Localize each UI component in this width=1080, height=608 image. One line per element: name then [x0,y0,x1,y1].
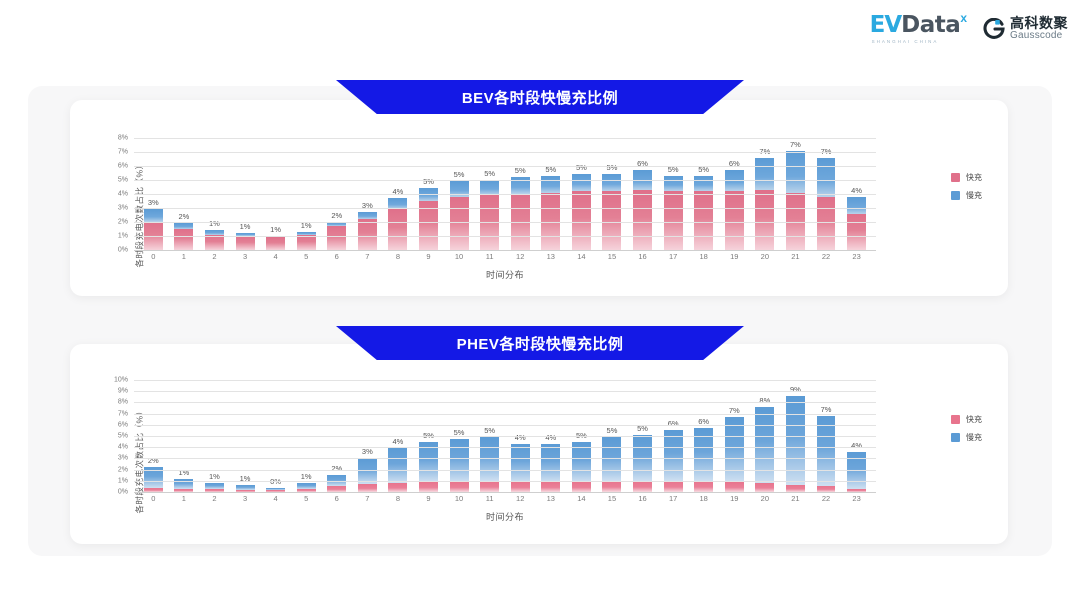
stacked-bar[interactable] [236,485,255,492]
stacked-bar[interactable] [480,180,499,250]
bar-segment-fast-charge[interactable] [847,214,866,250]
bar-segment-fast-charge[interactable] [725,191,744,250]
legend-item[interactable]: 慢充 [951,190,982,201]
evdata-prefix: EV [870,14,902,37]
x-tick-label: 16 [627,494,658,503]
y-tick-label: 5% [118,177,128,184]
stacked-bar[interactable] [205,230,224,250]
x-tick-label: 1 [169,252,200,261]
gausscode-cn: 高科数聚 [1010,16,1068,31]
bar-value-label: 1% [240,222,251,231]
y-tick-label: 0% [118,247,128,254]
stacked-bar[interactable] [511,177,530,250]
bev-chart: 各时段充电次数占比（%） 0%1%2%3%4%5%6%7%8% 3%2%1%1%… [88,138,988,290]
bar-value-label: 5% [576,163,587,172]
x-tick-label: 3 [230,252,261,261]
bar-segment-fast-charge[interactable] [358,219,377,250]
bar-segment-slow-charge[interactable] [755,407,774,483]
phev-chart: 各时段充电次数占比（%） 0%1%2%3%4%5%6%7%8%9%10% 2%1… [88,380,988,540]
bar-value-label: 5% [607,426,618,435]
logo-bar: EV Data x SHANGHAI CHINA 高科数聚 Gausscode [870,14,1068,44]
stacked-bar[interactable] [694,428,713,492]
legend-label: 快充 [966,414,982,425]
bar-segment-fast-charge[interactable] [327,226,346,250]
y-tick-label: 9% [118,388,128,395]
x-tick-label: 6 [321,252,352,261]
bar-segment-fast-charge[interactable] [755,483,774,492]
x-tick-label: 20 [750,494,781,503]
legend-swatch-icon [951,173,960,182]
y-tick-label: 1% [118,477,128,484]
bar-segment-fast-charge[interactable] [450,197,469,250]
bar-segment-slow-charge[interactable] [511,444,530,482]
phev-legend: 快充慢充 [951,414,982,443]
stacked-bar[interactable] [541,176,560,250]
phev-plot-area: 2%1%1%1%0%1%2%3%4%5%5%5%4%4%5%5%5%6%6%7%… [134,380,876,492]
y-tick-label: 2% [118,466,128,473]
bar-segment-fast-charge[interactable] [664,481,683,492]
bev-x-axis-label: 时间分布 [134,268,876,281]
x-tick-label: 9 [413,494,444,503]
stacked-bar[interactable] [541,444,560,492]
gausscode-en: Gausscode [1010,31,1068,42]
bar-value-label: 1% [209,472,220,481]
phev-y-ticks: 0%1%2%3%4%5%6%7%8%9%10% [88,380,132,492]
y-tick-label: 1% [118,233,128,240]
grid-line [134,138,876,139]
grid-line [134,425,876,426]
x-tick-label: 20 [750,252,781,261]
stacked-bar[interactable] [664,176,683,250]
bar-segment-fast-charge[interactable] [358,484,377,492]
bar-segment-slow-charge[interactable] [664,176,683,191]
grid-line [134,194,876,195]
x-tick-label: 6 [321,494,352,503]
x-tick-label: 12 [505,494,536,503]
x-tick-label: 18 [688,494,719,503]
bar-value-label: 8% [759,396,770,405]
bar-segment-slow-charge[interactable] [786,151,805,193]
legend-label: 慢充 [966,432,982,443]
x-tick-label: 4 [260,252,291,261]
bar-value-label: 3% [362,447,373,456]
grid-line [134,208,876,209]
x-tick-label: 18 [688,252,719,261]
bar-segment-slow-charge[interactable] [602,174,621,191]
y-tick-label: 8% [118,135,128,142]
x-tick-label: 10 [444,252,475,261]
grid-line [134,414,876,415]
x-tick-label: 0 [138,494,169,503]
bar-segment-slow-charge[interactable] [664,430,683,482]
stacked-bar[interactable] [327,475,346,492]
x-tick-label: 2 [199,494,230,503]
stacked-bar[interactable] [358,458,377,492]
x-tick-label: 9 [413,252,444,261]
x-tick-label: 23 [841,494,872,503]
phev-title-banner: PHEV各时段快慢充比例 [336,326,744,360]
x-tick-label: 10 [444,494,475,503]
x-tick-label: 13 [536,494,567,503]
bev-x-ticks: 01234567891011121314151617181920212223 [134,252,876,261]
x-tick-label: 3 [230,494,261,503]
x-tick-label: 22 [811,494,842,503]
stacked-bar[interactable] [480,437,499,492]
bar-segment-slow-charge[interactable] [755,158,774,190]
grid-line [134,447,876,448]
bar-value-label: 5% [484,426,495,435]
bar-segment-fast-charge[interactable] [817,197,836,250]
bar-segment-fast-charge[interactable] [725,482,744,492]
stacked-bar[interactable] [358,212,377,250]
stacked-bar[interactable] [602,437,621,492]
bar-value-label: 4% [515,433,526,442]
phev-title-text: PHEV各时段快慢充比例 [457,333,624,354]
bar-segment-fast-charge[interactable] [694,191,713,250]
bar-segment-fast-charge[interactable] [755,190,774,250]
x-tick-label: 19 [719,494,750,503]
stacked-bar[interactable] [144,467,163,492]
grid-line [134,152,876,153]
stacked-bar[interactable] [602,174,621,250]
gausscode-mark-icon [983,18,1005,40]
bar-value-label: 5% [607,163,618,172]
x-tick-label: 5 [291,494,322,503]
bar-segment-fast-charge[interactable] [388,483,407,492]
legend-item[interactable]: 慢充 [951,432,982,443]
bar-segment-slow-charge[interactable] [144,209,163,222]
grid-line [134,391,876,392]
bar-value-label: 7% [821,405,832,414]
bev-y-ticks: 0%1%2%3%4%5%6%7%8% [88,138,132,250]
x-tick-label: 22 [811,252,842,261]
evdata-superscript-icon: x [960,12,967,24]
phev-x-axis-label: 时间分布 [134,510,876,523]
stacked-bar[interactable] [664,430,683,492]
bar-segment-slow-charge[interactable] [817,416,836,487]
evdata-logo: EV Data x SHANGHAI CHINA [870,14,967,44]
bar-segment-fast-charge[interactable] [174,229,193,250]
x-tick-label: 16 [627,252,658,261]
bev-title-text: BEV各时段快慢充比例 [462,87,618,108]
legend-item[interactable]: 快充 [951,172,982,183]
stacked-bar[interactable] [419,442,438,492]
x-tick-label: 8 [383,494,414,503]
y-tick-label: 5% [118,433,128,440]
bar-segment-fast-charge[interactable] [633,481,652,492]
bar-segment-fast-charge[interactable] [602,191,621,250]
bar-value-label: 1% [301,472,312,481]
legend-item[interactable]: 快充 [951,414,982,425]
grid-line [134,402,876,403]
x-tick-label: 11 [474,252,505,261]
stacked-bar[interactable] [786,396,805,492]
bar-value-label: 1% [209,219,220,228]
stacked-bar[interactable] [266,236,285,250]
stacked-bar[interactable] [755,407,774,492]
bar-segment-slow-charge[interactable] [817,158,836,197]
x-tick-label: 14 [566,252,597,261]
grid-line [134,250,876,251]
bar-value-label: 3% [148,198,159,207]
x-tick-label: 14 [566,494,597,503]
stacked-bar[interactable] [297,483,316,492]
grid-line [134,436,876,437]
bar-value-label: 1% [240,474,251,483]
grid-line [134,166,876,167]
stacked-bar[interactable] [725,170,744,250]
bar-segment-fast-charge[interactable] [541,482,560,492]
y-tick-label: 0% [118,489,128,496]
legend-label: 快充 [966,172,982,183]
x-tick-label: 4 [260,494,291,503]
bev-plot-area: 3%2%1%1%1%1%2%3%4%5%5%5%5%5%5%5%6%5%5%6%… [134,138,876,250]
bar-segment-fast-charge[interactable] [694,481,713,492]
slide-page: EV Data x SHANGHAI CHINA 高科数聚 Gausscode … [0,0,1080,608]
bar-segment-fast-charge[interactable] [572,482,591,492]
grid-line [134,180,876,181]
grid-line [134,380,876,381]
x-tick-label: 15 [597,494,628,503]
stacked-bar[interactable] [450,181,469,250]
y-tick-label: 2% [118,219,128,226]
bar-segment-fast-charge[interactable] [602,481,621,492]
grid-line [134,481,876,482]
stacked-bar[interactable] [633,170,652,250]
phev-x-ticks: 01234567891011121314151617181920212223 [134,494,876,503]
bar-segment-fast-charge[interactable] [786,485,805,492]
bar-segment-fast-charge[interactable] [572,191,591,250]
stacked-bar[interactable] [297,232,316,250]
y-tick-label: 7% [118,410,128,417]
x-tick-label: 19 [719,252,750,261]
y-tick-label: 3% [118,205,128,212]
gausscode-text: 高科数聚 Gausscode [1010,16,1068,41]
bar-value-label: 1% [270,225,281,234]
bar-segment-slow-charge[interactable] [388,448,407,483]
legend-swatch-icon [951,191,960,200]
stacked-bar[interactable] [572,174,591,250]
grid-line [134,222,876,223]
bar-segment-fast-charge[interactable] [388,209,407,250]
x-tick-label: 7 [352,252,383,261]
bar-segment-slow-charge[interactable] [450,439,469,482]
x-tick-label: 11 [474,494,505,503]
x-tick-label: 17 [658,494,689,503]
bar-segment-slow-charge[interactable] [572,174,591,191]
x-tick-label: 1 [169,494,200,503]
x-tick-label: 7 [352,494,383,503]
bar-value-label: 5% [637,424,648,433]
grid-line [134,236,876,237]
bar-segment-slow-charge[interactable] [541,444,560,482]
legend-swatch-icon [951,433,960,442]
x-tick-label: 21 [780,494,811,503]
bar-segment-slow-charge[interactable] [541,176,560,193]
y-tick-label: 8% [118,399,128,406]
x-tick-label: 13 [536,252,567,261]
bar-value-label: 9% [790,385,801,394]
stacked-bar[interactable] [419,188,438,250]
stacked-bar[interactable] [572,442,591,492]
stacked-bar[interactable] [388,198,407,250]
bar-value-label: 4% [545,433,556,442]
grid-line [134,470,876,471]
stacked-bar[interactable] [694,176,713,250]
bar-value-label: 5% [423,177,434,186]
y-tick-label: 3% [118,455,128,462]
stacked-bar[interactable] [511,444,530,492]
y-tick-label: 4% [118,191,128,198]
x-tick-label: 8 [383,252,414,261]
bar-value-label: 4% [851,441,862,450]
bar-segment-slow-charge[interactable] [694,176,713,191]
bar-segment-fast-charge[interactable] [664,191,683,250]
bar-segment-slow-charge[interactable] [847,197,866,214]
bar-segment-slow-charge[interactable] [786,396,805,486]
x-tick-label: 15 [597,252,628,261]
bar-segment-fast-charge[interactable] [450,482,469,492]
bev-legend: 快充慢充 [951,172,982,201]
stacked-bar[interactable] [205,483,224,492]
bar-segment-fast-charge[interactable] [633,190,652,250]
bar-value-label: 2% [178,212,189,221]
bar-value-label: 5% [484,169,495,178]
evdata-wordmark: EV Data x [870,14,967,37]
legend-label: 慢充 [966,190,982,201]
x-tick-label: 17 [658,252,689,261]
bar-segment-slow-charge[interactable] [419,442,438,482]
stacked-bar[interactable] [847,197,866,250]
gausscode-logo: 高科数聚 Gausscode [983,16,1068,41]
y-tick-label: 10% [114,377,128,384]
evdata-word: Data [901,14,960,37]
x-tick-label: 0 [138,252,169,261]
legend-swatch-icon [951,415,960,424]
y-tick-label: 7% [118,149,128,156]
grid-line [134,492,876,493]
bar-segment-slow-charge[interactable] [725,417,744,482]
grid-line [134,458,876,459]
bar-segment-fast-charge[interactable] [419,482,438,492]
bar-segment-fast-charge[interactable] [236,236,255,250]
y-tick-label: 6% [118,421,128,428]
bev-title-banner: BEV各时段快慢充比例 [336,80,744,114]
bar-segment-slow-charge[interactable] [358,212,377,219]
evdata-subtitle: SHANGHAI CHINA [872,39,939,44]
bar-segment-fast-charge[interactable] [480,481,499,492]
y-tick-label: 6% [118,163,128,170]
bar-value-label: 2% [331,211,342,220]
bar-segment-fast-charge[interactable] [511,482,530,492]
x-tick-label: 2 [199,252,230,261]
bar-value-label: 6% [668,419,679,428]
stacked-bar[interactable] [144,209,163,250]
x-tick-label: 21 [780,252,811,261]
stacked-bar[interactable] [633,435,652,492]
bar-value-label: 7% [790,140,801,149]
x-tick-label: 23 [841,252,872,261]
bar-value-label: 5% [454,170,465,179]
bar-value-label: 4% [392,437,403,446]
bar-value-label: 5% [515,166,526,175]
bar-segment-fast-charge[interactable] [266,237,285,250]
x-tick-label: 5 [291,252,322,261]
y-tick-label: 4% [118,444,128,451]
x-tick-label: 12 [505,252,536,261]
